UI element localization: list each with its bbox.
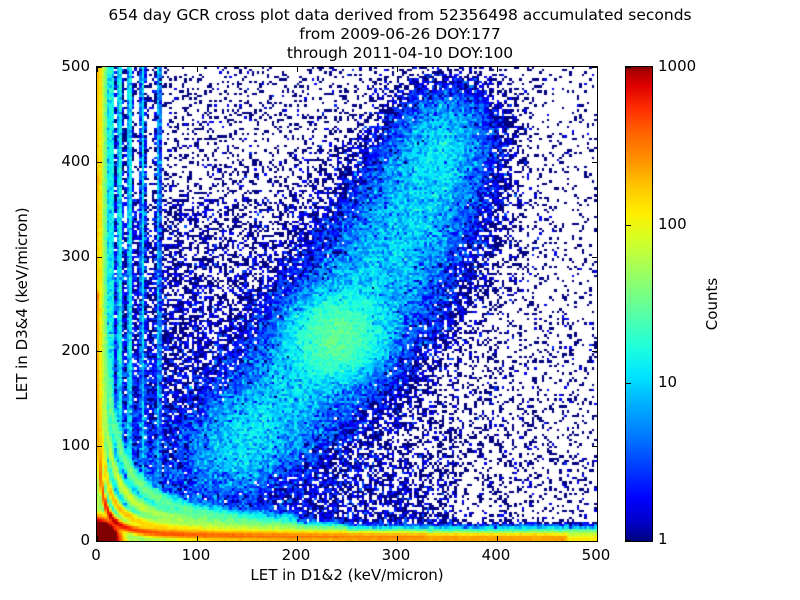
y-tick-right-100: [592, 446, 597, 447]
figure: 654 day GCR cross plot data derived from…: [0, 0, 800, 600]
y-tick-label-0: 0: [80, 531, 90, 549]
colorbar-tick-label-1000: 1000: [658, 57, 696, 75]
x-tick-top-200: [297, 67, 298, 72]
y-tick-0: [97, 541, 102, 542]
y-tick-right-500: [592, 67, 597, 68]
y-tick-label-500: 500: [61, 57, 90, 75]
y-axis-title: LET in D3&4 (keV/micron): [13, 207, 31, 400]
colorbar-tick-100: [626, 225, 631, 226]
y-tick-500: [97, 67, 102, 68]
x-tick-100: [197, 536, 198, 541]
x-tick-200: [297, 536, 298, 541]
y-tick-right-400: [592, 162, 597, 163]
x-tick-500: [597, 536, 598, 541]
y-tick-right-200: [592, 351, 597, 352]
colorbar-tick-1000: [626, 67, 631, 68]
y-tick-label-100: 100: [61, 436, 90, 454]
y-tick-300: [97, 257, 102, 258]
plot-area: [96, 66, 598, 542]
x-tick-400: [497, 536, 498, 541]
x-tick-top-400: [497, 67, 498, 72]
colorbar-tick-10: [626, 383, 631, 384]
x-tick-label-300: 300: [382, 546, 411, 564]
x-tick-label-100: 100: [182, 546, 211, 564]
x-tick-300: [397, 536, 398, 541]
y-tick-100: [97, 446, 102, 447]
x-tick-label-200: 200: [282, 546, 311, 564]
colorbar-title: Counts: [703, 278, 721, 330]
x-tick-label-500: 500: [582, 546, 611, 564]
title-line-1: 654 day GCR cross plot data derived from…: [0, 6, 800, 25]
x-tick-top-100: [197, 67, 198, 72]
colorbar-tick-label-100: 100: [658, 215, 687, 233]
x-tick-top-500: [597, 67, 598, 72]
y-tick-right-300: [592, 257, 597, 258]
x-tick-top-300: [397, 67, 398, 72]
y-tick-200: [97, 351, 102, 352]
colorbar: [625, 66, 653, 542]
colorbar-tick-1: [626, 540, 631, 541]
colorbar-tick-label-10: 10: [658, 373, 677, 391]
scatter-density-canvas: [97, 67, 597, 541]
x-tick-label-400: 400: [482, 546, 511, 564]
y-tick-label-400: 400: [61, 152, 90, 170]
colorbar-tick-label-1: 1: [658, 530, 668, 548]
y-tick-right-0: [592, 541, 597, 542]
title-line-2: from 2009-06-26 DOY:177: [0, 25, 800, 44]
y-tick-label-200: 200: [61, 341, 90, 359]
x-axis-title: LET in D1&2 (keV/micron): [250, 566, 443, 584]
y-tick-400: [97, 162, 102, 163]
y-tick-label-300: 300: [61, 247, 90, 265]
figure-title: 654 day GCR cross plot data derived from…: [0, 6, 800, 63]
x-tick-label-0: 0: [91, 546, 101, 564]
